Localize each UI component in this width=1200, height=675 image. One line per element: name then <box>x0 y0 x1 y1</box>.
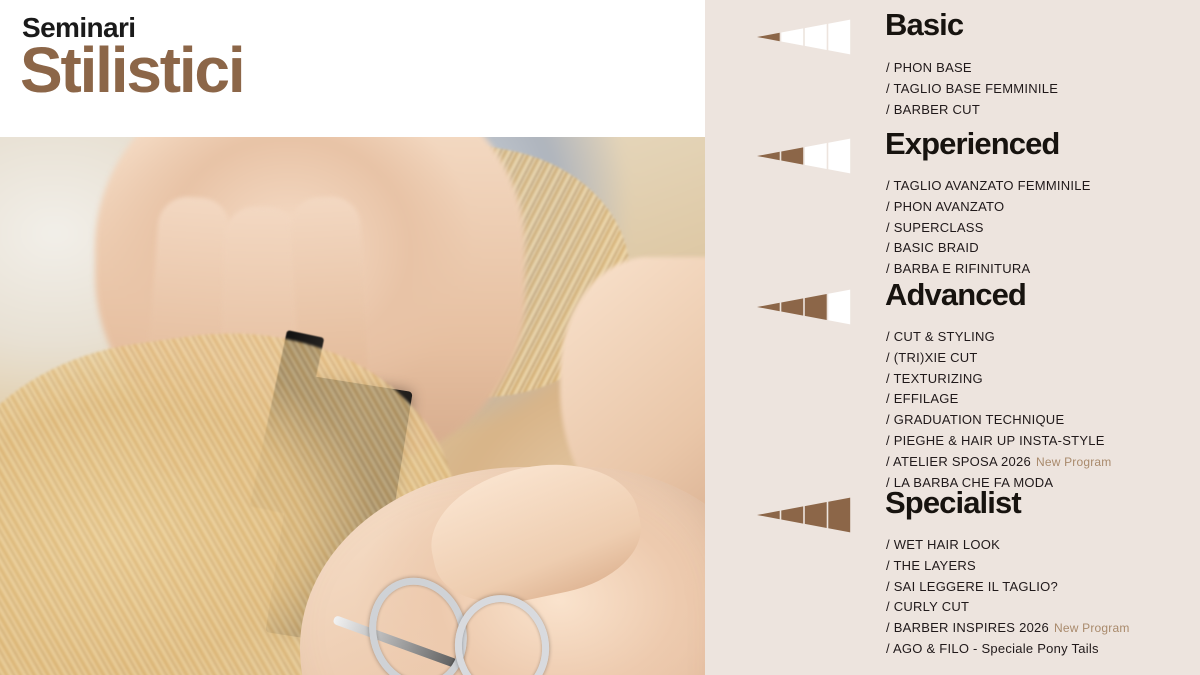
course-label: / PHON AVANZATO <box>886 199 1004 214</box>
course-label: / CURLY CUT <box>886 599 969 614</box>
course-item[interactable]: / WET HAIR LOOK <box>886 535 1130 556</box>
level-indicator-experienced <box>755 137 855 175</box>
course-label: / (TRI)XIE CUT <box>886 350 978 365</box>
course-label: / BARBER INSPIRES 2026 <box>886 620 1049 635</box>
level-segment <box>757 303 780 311</box>
course-item[interactable]: / PHON BASE <box>886 58 1058 79</box>
level-segment <box>781 506 803 523</box>
section-heading-specialist: Specialist <box>885 487 1021 518</box>
course-label: / PIEGHE & HAIR UP INSTA-STYLE <box>886 433 1105 448</box>
course-item[interactable]: / TAGLIO BASE FEMMINILE <box>886 79 1058 100</box>
levels-panel: Basic/ PHON BASE/ TAGLIO BASE FEMMINILE/… <box>705 0 1200 675</box>
course-label: / GRADUATION TECHNIQUE <box>886 412 1064 427</box>
course-item[interactable]: / PIEGHE & HAIR UP INSTA-STYLE <box>886 431 1112 452</box>
level-segment <box>805 294 827 320</box>
course-item[interactable]: / BARBER CUT <box>886 100 1058 121</box>
course-list-basic: / PHON BASE/ TAGLIO BASE FEMMINILE/ BARB… <box>886 58 1058 120</box>
level-segment <box>805 143 827 169</box>
course-label: / BASIC BRAID <box>886 240 979 255</box>
level-segment <box>781 147 803 164</box>
course-label: / PHON BASE <box>886 60 972 75</box>
course-item[interactable]: / GRADUATION TECHNIQUE <box>886 410 1112 431</box>
course-item[interactable]: / BASIC BRAID <box>886 238 1091 259</box>
course-item[interactable]: / SUPERCLASS <box>886 218 1091 239</box>
course-item[interactable]: / CURLY CUT <box>886 597 1130 618</box>
course-item[interactable]: / PHON AVANZATO <box>886 197 1091 218</box>
new-program-badge: New Program <box>1054 621 1130 635</box>
course-item[interactable]: / ATELIER SPOSA 2026New Program <box>886 452 1112 473</box>
course-label: / SAI LEGGERE IL TAGLIO? <box>886 579 1058 594</box>
level-segment <box>828 290 850 325</box>
course-label: / WET HAIR LOOK <box>886 537 1000 552</box>
course-item[interactable]: / AGO & FILO - Speciale Pony Tails <box>886 639 1130 660</box>
course-label: / TEXTURIZING <box>886 371 983 386</box>
course-label: / BARBA E RIFINITURA <box>886 261 1030 276</box>
course-label: / BARBER CUT <box>886 102 980 117</box>
section-heading-basic: Basic <box>885 9 963 40</box>
course-list-advanced: / CUT & STYLING/ (TRI)XIE CUT/ TEXTURIZI… <box>886 327 1112 493</box>
section-heading-experienced: Experienced <box>885 128 1059 159</box>
course-label: / SUPERCLASS <box>886 220 984 235</box>
course-list-experienced: / TAGLIO AVANZATO FEMMINILE/ PHON AVANZA… <box>886 176 1091 280</box>
level-segment <box>781 298 803 315</box>
course-label: / TAGLIO AVANZATO FEMMINILE <box>886 178 1091 193</box>
course-list-specialist: / WET HAIR LOOK/ THE LAYERS/ SAI LEGGERE… <box>886 535 1130 660</box>
course-label: / EFFILAGE <box>886 391 959 406</box>
level-segment <box>828 20 850 55</box>
level-segment <box>828 139 850 174</box>
level-indicator-specialist <box>755 496 855 534</box>
course-item[interactable]: / BARBER INSPIRES 2026New Program <box>886 618 1130 639</box>
level-segment <box>757 152 780 160</box>
course-label: / ATELIER SPOSA 2026 <box>886 454 1031 469</box>
left-column: Seminari Stilistici <box>0 0 705 675</box>
level-indicator-advanced <box>755 288 855 326</box>
title-block: Seminari Stilistici <box>0 0 705 137</box>
course-label: / AGO & FILO - Speciale Pony Tails <box>886 641 1099 656</box>
level-segment <box>781 28 803 45</box>
title-line-2: Stilistici <box>20 37 243 104</box>
level-segment <box>757 511 780 519</box>
course-item[interactable]: / TEXTURIZING <box>886 369 1112 390</box>
level-segment <box>805 502 827 528</box>
course-item[interactable]: / (TRI)XIE CUT <box>886 348 1112 369</box>
level-indicator-basic <box>755 18 855 56</box>
course-item[interactable]: / TAGLIO AVANZATO FEMMINILE <box>886 176 1091 197</box>
course-label: / THE LAYERS <box>886 558 976 573</box>
course-item[interactable]: / THE LAYERS <box>886 556 1130 577</box>
course-label: / CUT & STYLING <box>886 329 995 344</box>
section-heading-advanced: Advanced <box>885 279 1026 310</box>
course-item[interactable]: / EFFILAGE <box>886 389 1112 410</box>
level-segment <box>805 24 827 50</box>
new-program-badge: New Program <box>1036 455 1112 469</box>
level-segment <box>757 33 780 41</box>
course-label: / TAGLIO BASE FEMMINILE <box>886 81 1058 96</box>
course-item[interactable]: / SAI LEGGERE IL TAGLIO? <box>886 577 1130 598</box>
course-item[interactable]: / CUT & STYLING <box>886 327 1112 348</box>
level-segment <box>828 498 850 533</box>
hero-photo <box>0 137 705 675</box>
